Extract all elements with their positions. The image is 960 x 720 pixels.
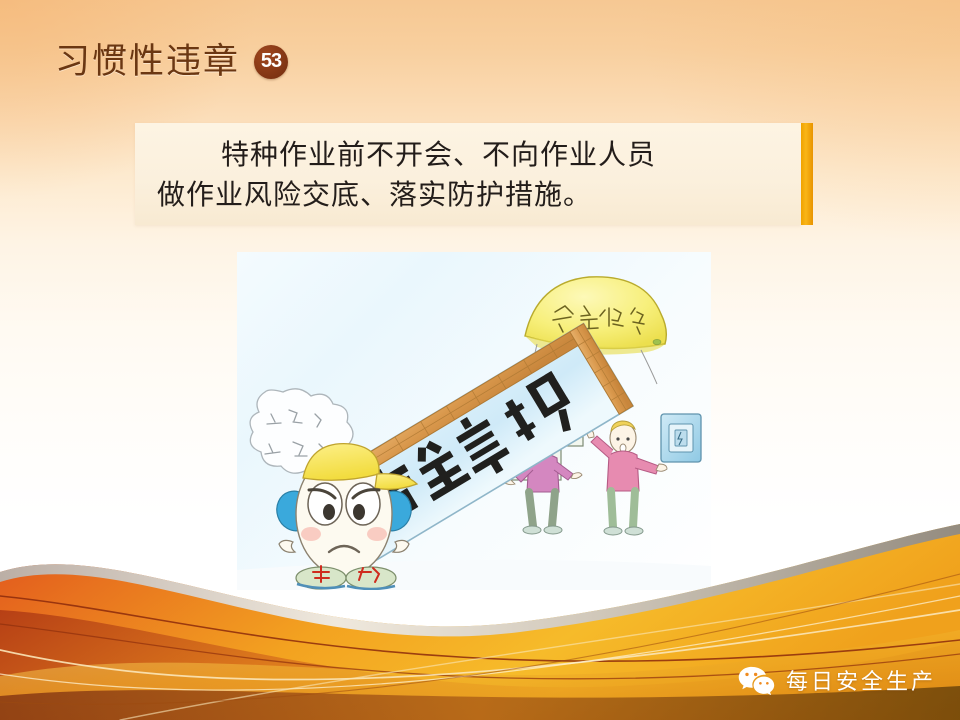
footer-brand: 每日安全生产 — [737, 664, 936, 696]
statement-accent-bar — [801, 123, 813, 225]
statement-line-1: 特种作业前不开会、不向作业人员 — [157, 136, 785, 176]
electrical-panel-icon — [661, 414, 701, 462]
status-badge: 53 — [254, 45, 288, 79]
statement-box: 特种作业前不开会、不向作业人员 做作业风险交底、落实防护措施。 — [135, 123, 801, 225]
brand-name: 每日安全生产 — [786, 664, 936, 696]
wechat-icon — [737, 665, 775, 695]
slide-canvas: 习惯性违章 53 特种作业前不开会、不向作业人员 做作业风险交底、落实防护措施。 — [0, 0, 960, 720]
page-title: 习惯性违章 — [55, 44, 240, 79]
statement-line-2: 做作业风险交底、落实防护措施。 — [157, 176, 785, 216]
slide-header: 习惯性违章 53 — [0, 0, 960, 118]
statement-text: 特种作业前不开会、不向作业人员 做作业风险交底、落实防护措施。 — [135, 123, 801, 216]
title-row: 习惯性违章 53 — [55, 44, 288, 79]
